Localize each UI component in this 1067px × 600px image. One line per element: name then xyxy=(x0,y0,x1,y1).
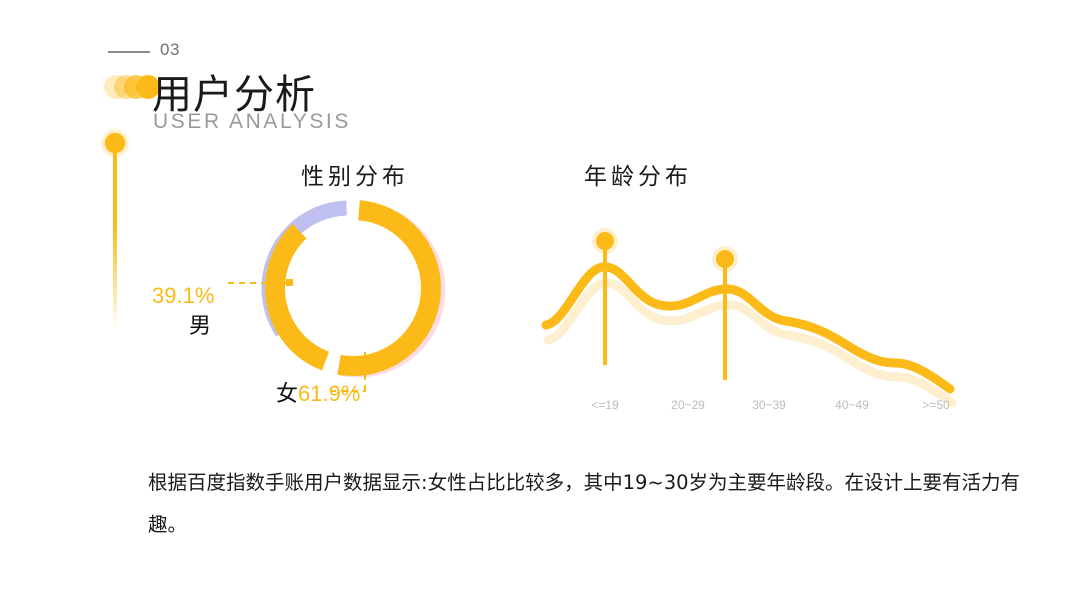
age-tick-3: 40~49 xyxy=(835,398,869,412)
male-leader-dot xyxy=(286,279,293,286)
summary-paragraph: 根据百度指数手账用户数据显示:女性占比比较多，其中19~30岁为主要年龄段。在设… xyxy=(148,462,1034,546)
gender-donut-chart xyxy=(253,188,453,388)
female-percentage: 61.9% xyxy=(298,381,360,406)
age-marker-1 xyxy=(592,228,618,368)
female-leader-line-vertical xyxy=(364,352,366,392)
pin-marker-icon xyxy=(100,128,136,333)
header-rule xyxy=(108,51,150,53)
male-label: 男 xyxy=(189,308,211,340)
age-marker-2 xyxy=(712,246,738,383)
male-percentage: 39.1% xyxy=(152,283,214,309)
age-chart-title: 年龄分布 xyxy=(584,157,692,191)
age-axis-ticks: <=19 20~29 30~39 40~49 >=50 xyxy=(540,398,970,418)
female-label: 女 xyxy=(276,382,298,407)
page-subtitle: USER ANALYSIS xyxy=(153,110,351,134)
slide-root: 03 用户分析 USER ANALYSIS 性别分布 年龄分布 39.1% 男 … xyxy=(0,0,1067,600)
gender-chart-title: 性别分布 xyxy=(301,157,409,191)
age-tick-0: <=19 xyxy=(591,398,618,412)
age-tick-1: 20~29 xyxy=(671,398,705,412)
section-number: 03 xyxy=(160,40,180,60)
age-tick-2: 30~39 xyxy=(752,398,786,412)
age-tick-4: >=50 xyxy=(922,398,949,412)
female-label-group: 女61.9% xyxy=(276,376,360,408)
age-line-chart xyxy=(540,225,970,415)
male-leader-line xyxy=(228,282,290,284)
